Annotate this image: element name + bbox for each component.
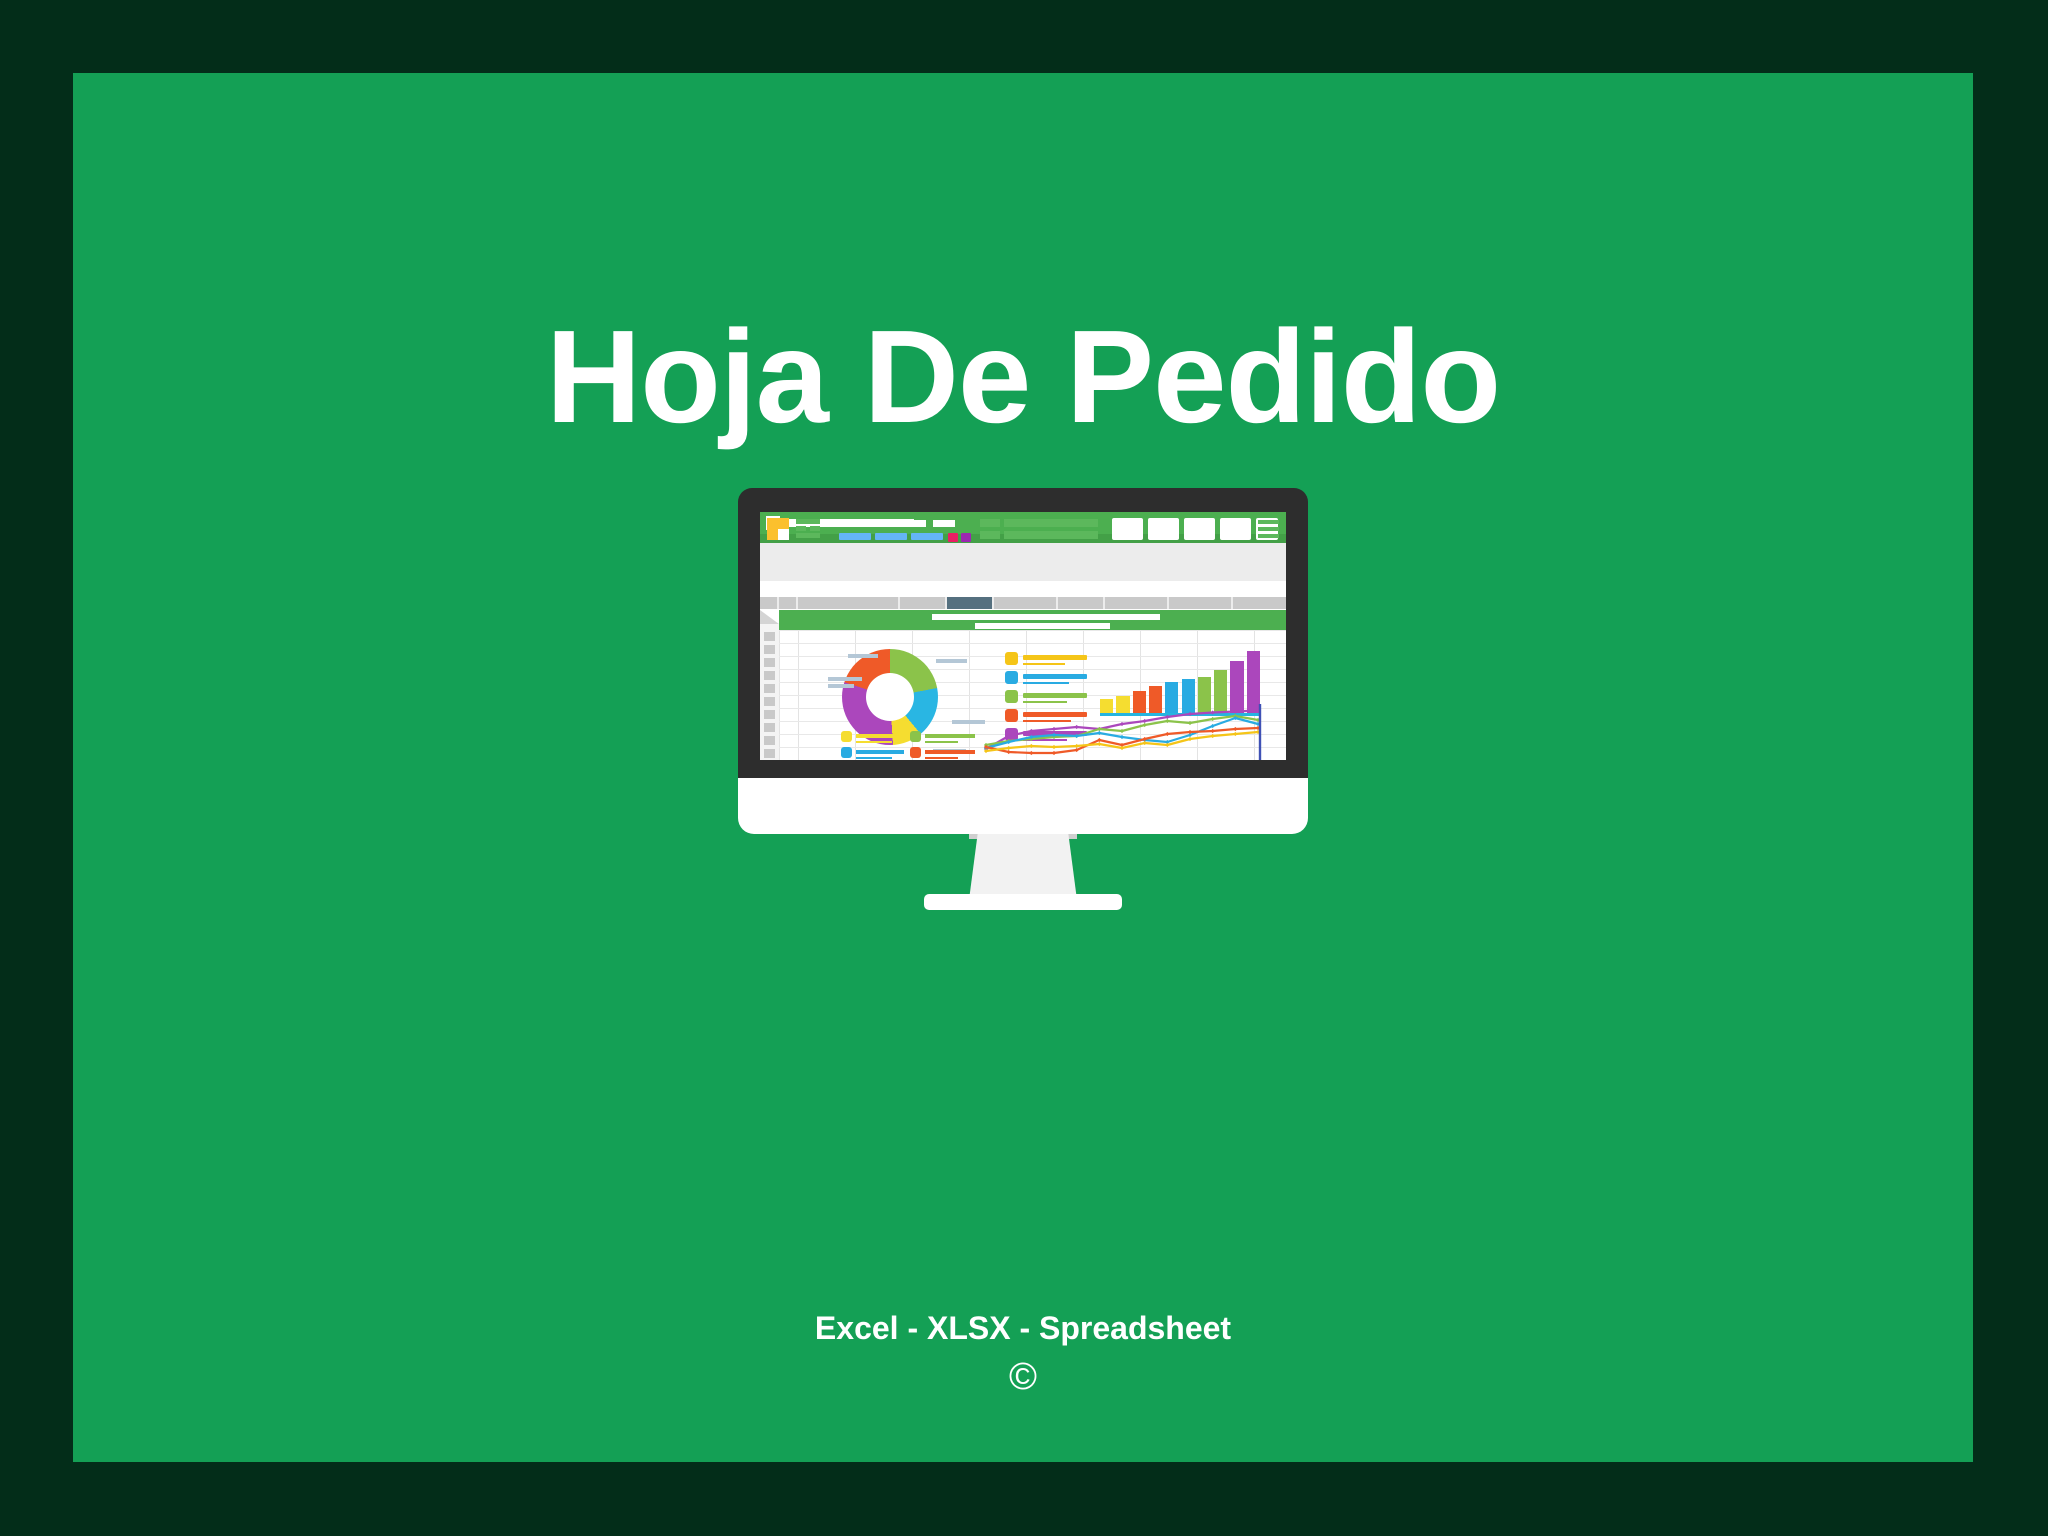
column-header[interactable] (798, 597, 898, 609)
ribbon-button[interactable] (1112, 518, 1143, 540)
legend-subbar (925, 741, 958, 743)
ribbon-green-block (980, 519, 1000, 527)
ribbon-white-field[interactable] (933, 520, 955, 527)
line-chart-marker (1120, 722, 1124, 726)
line-chart-marker (1211, 717, 1215, 721)
column-header[interactable] (994, 597, 1056, 609)
row-header[interactable] (764, 671, 775, 680)
line-chart-marker (1007, 746, 1011, 750)
monitor-illustration (738, 488, 1308, 888)
ribbon-green-bar (796, 526, 806, 531)
row-header[interactable] (764, 749, 775, 758)
legend-swatch (841, 731, 852, 742)
select-all-corner-icon[interactable] (760, 610, 779, 624)
sheet-header-line (932, 614, 1160, 620)
ribbon-white-field[interactable] (834, 520, 926, 527)
line-chart-marker (1211, 734, 1215, 738)
ribbon-green-block (1004, 531, 1098, 539)
ribbon-green-bar (810, 526, 820, 531)
row-header[interactable] (764, 736, 775, 745)
copyright-icon: © (73, 1358, 1973, 1396)
footer-format-label: Excel - XLSX - Spreadsheet (73, 1311, 1973, 1346)
legend-subbar (925, 757, 958, 759)
donut-label (848, 654, 878, 658)
line-chart-marker (1143, 741, 1147, 745)
line-chart (984, 704, 1260, 760)
line-chart-marker (1188, 721, 1192, 725)
legend-bar (1023, 674, 1087, 679)
column-header[interactable] (900, 597, 945, 609)
legend-bar (1023, 655, 1087, 660)
app-ribbon (760, 543, 1286, 581)
poster-inner-panel: Hoja De Pedido (73, 73, 1973, 1462)
page-title: Hoja De Pedido (73, 311, 1973, 443)
line-chart-marker (1188, 712, 1192, 716)
legend-swatch (841, 747, 852, 758)
line-chart-marker (1097, 731, 1101, 735)
line-chart-marker (1052, 745, 1056, 749)
name-box[interactable] (767, 583, 844, 594)
poster-canvas: Hoja De Pedido (0, 0, 2048, 1536)
hamburger-menu-icon[interactable] (1258, 527, 1279, 531)
legend-bar (1023, 693, 1087, 698)
ribbon-button[interactable] (1148, 518, 1179, 540)
row-header[interactable] (764, 658, 775, 667)
line-chart-marker (1075, 744, 1079, 748)
footer: Excel - XLSX - Spreadsheet © (73, 1311, 1973, 1396)
donut-label (828, 684, 854, 688)
formula-input[interactable] (850, 583, 1280, 594)
ribbon-green-bar (796, 533, 820, 538)
legend-swatch (1005, 671, 1018, 684)
legend-swatch (910, 747, 921, 758)
line-chart-marker (1143, 719, 1147, 723)
donut-label (952, 720, 985, 724)
row-header[interactable] (764, 645, 775, 654)
sheet-header-line (975, 623, 1110, 629)
line-chart-marker (1029, 751, 1033, 755)
line-chart-marker (1052, 727, 1056, 731)
column-header[interactable] (779, 597, 796, 609)
legend-subbar (1023, 701, 1067, 703)
line-chart-marker (1029, 729, 1033, 733)
row-header[interactable] (764, 710, 775, 719)
legend-subbar (1023, 682, 1069, 684)
legend-bar (856, 750, 904, 754)
ribbon-button[interactable] (1184, 518, 1215, 540)
line-chart-marker (1233, 732, 1237, 736)
legend-swatch (910, 731, 921, 742)
ribbon-blue-chip[interactable] (911, 533, 943, 540)
line-chart-marker (1165, 732, 1169, 736)
column-header[interactable] (1169, 597, 1231, 609)
ribbon-pink-chip[interactable] (948, 533, 958, 542)
row-header[interactable] (764, 723, 775, 732)
hamburger-menu-icon[interactable] (1258, 520, 1279, 524)
line-chart-marker (1120, 746, 1124, 750)
legend-swatch (1005, 652, 1018, 665)
line-chart-marker (1211, 710, 1215, 714)
ribbon-blue-chip[interactable] (875, 533, 907, 540)
row-header[interactable] (764, 632, 775, 641)
line-chart-marker (1075, 725, 1079, 729)
column-header[interactable] (1058, 597, 1103, 609)
ribbon-green-block (980, 531, 1000, 539)
donut-label (936, 659, 967, 663)
legend-swatch (1005, 690, 1018, 703)
line-chart-marker (1165, 715, 1169, 719)
row-header[interactable] (764, 697, 775, 706)
line-chart-marker (1007, 750, 1011, 754)
column-header-selected[interactable] (947, 597, 992, 609)
legend-subbar (856, 757, 892, 759)
monitor-stand-base (924, 894, 1122, 910)
line-chart-marker (1029, 744, 1033, 748)
column-header[interactable] (1105, 597, 1167, 609)
column-header[interactable] (760, 597, 777, 609)
hamburger-menu-icon[interactable] (1258, 534, 1279, 538)
line-chart-marker (1233, 709, 1237, 713)
donut-chart-hole (866, 673, 914, 721)
legend-subbar (856, 741, 892, 743)
line-chart-marker (1052, 751, 1056, 755)
legend-bar (925, 734, 975, 738)
new-file-icon-corner (778, 529, 789, 540)
ribbon-green-bar (796, 519, 820, 524)
ribbon-green-block (1004, 519, 1098, 527)
line-chart-marker (1211, 729, 1215, 733)
line-chart-marker (1097, 742, 1101, 746)
legend-bar (925, 750, 975, 754)
legend-bar (856, 734, 904, 738)
monitor-stand-neck (969, 834, 1077, 900)
row-header[interactable] (764, 684, 775, 693)
ribbon-purple-chip[interactable] (961, 533, 971, 542)
line-chart-marker (1120, 735, 1124, 739)
monitor-chin (738, 778, 1308, 834)
donut-label (828, 677, 862, 681)
line-chart-marker (1165, 719, 1169, 723)
line-chart-marker (1233, 727, 1237, 731)
line-chart-svg (984, 704, 1260, 760)
ribbon-button[interactable] (1220, 518, 1251, 540)
monitor-screen (760, 512, 1286, 760)
column-header[interactable] (1233, 597, 1286, 609)
ribbon-blue-chip[interactable] (839, 533, 871, 540)
legend-subbar (1023, 663, 1065, 665)
